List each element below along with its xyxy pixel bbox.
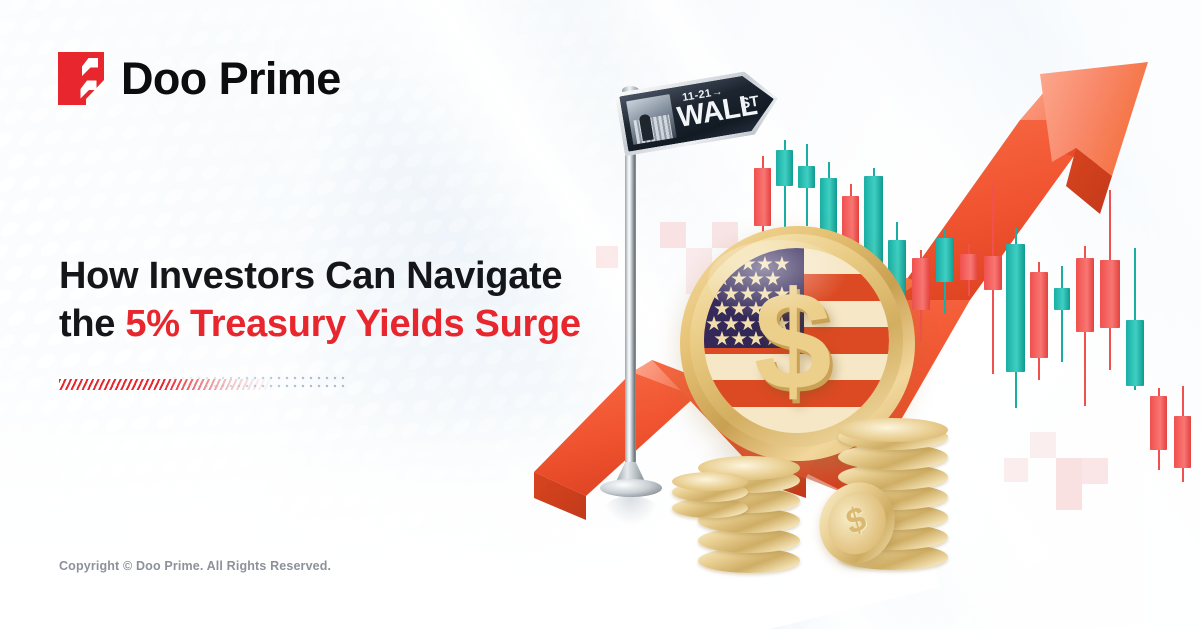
candle-body <box>984 256 1002 290</box>
coin-disc-top <box>838 418 948 442</box>
candle-body <box>776 150 793 186</box>
coin-face: $ <box>704 248 889 433</box>
candle-body <box>1150 396 1167 450</box>
hero-illustration: $ <box>500 0 1201 629</box>
promo-banner: Doo Prime How Investors Can Navigate the… <box>0 0 1201 629</box>
stock-exchange-photo <box>626 94 677 145</box>
brand-logo[interactable]: Doo Prime <box>58 52 341 105</box>
copyright-text: Copyright © Doo Prime. All Rights Reserv… <box>59 559 331 573</box>
candle-body <box>936 238 954 282</box>
divider-dots <box>155 374 349 390</box>
divider <box>59 374 349 392</box>
candle-wick <box>1061 266 1063 362</box>
dollar-sign-icon: $ <box>754 271 832 411</box>
candle-body <box>1076 258 1094 332</box>
candle-body <box>1126 320 1144 386</box>
pole-reflection <box>604 496 658 524</box>
pole-base <box>600 479 662 497</box>
coin-disc-top <box>672 472 748 491</box>
brand-name: Doo Prime <box>121 56 341 101</box>
candle-body <box>1054 288 1070 310</box>
candle-body <box>798 166 815 188</box>
candle-body <box>1030 272 1048 358</box>
candle-body <box>1100 260 1120 328</box>
coin-stack-small <box>672 472 748 524</box>
candle-body <box>960 254 978 280</box>
headline-prefix: the <box>59 303 125 345</box>
candle-body <box>1006 244 1025 372</box>
doo-prime-mark-icon <box>58 52 104 105</box>
sign-street-suffix: ST <box>739 93 760 113</box>
candle-body <box>1174 416 1191 468</box>
candle-body <box>754 168 771 226</box>
